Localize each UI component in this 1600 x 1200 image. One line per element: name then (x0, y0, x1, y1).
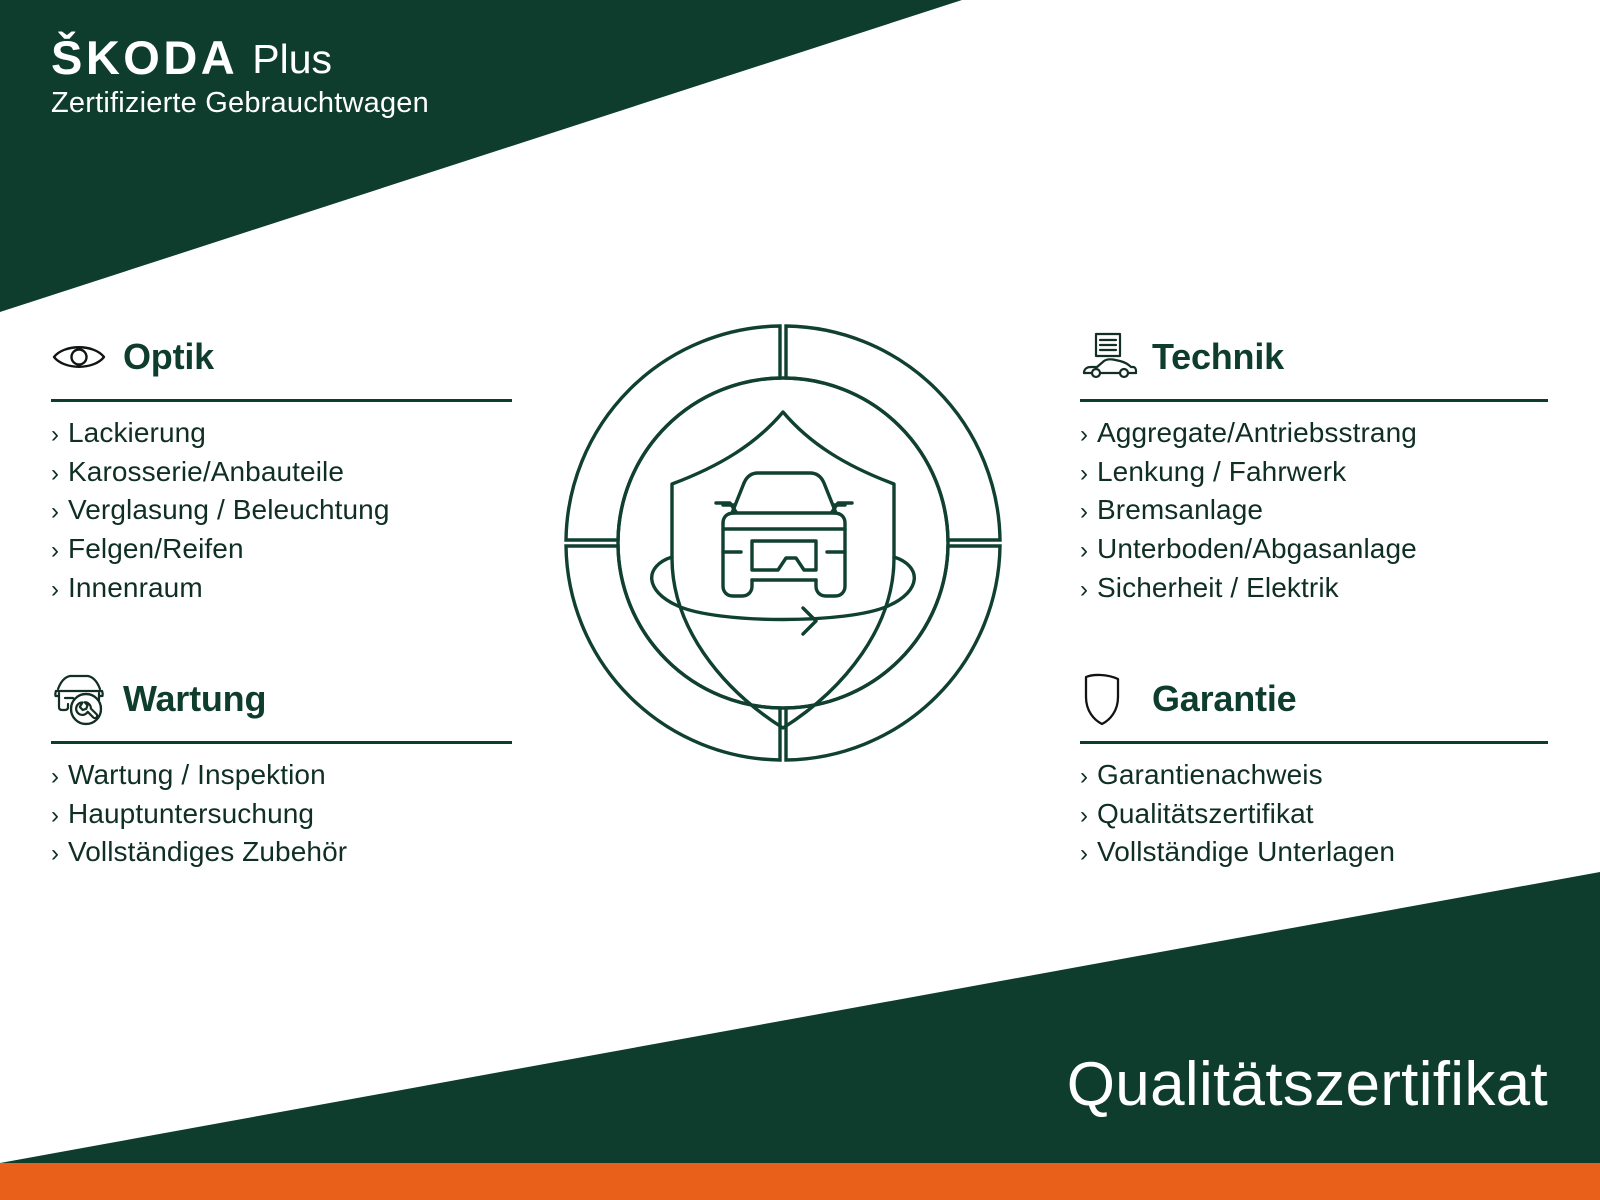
list-item: ›Sicherheit / Elektrik (1080, 569, 1548, 608)
list-item: ›Wartung / Inspektion (51, 756, 512, 795)
list-item: ›Bremsanlage (1080, 491, 1548, 530)
section-title-optik: Optik (123, 339, 214, 375)
brand-name: ŠKODA (51, 34, 238, 81)
section-garantie: Garantie ›Garantienachweis ›Qualitätszer… (1080, 670, 1548, 872)
chevron-right-icon: › (1080, 799, 1097, 832)
car-wrench-icon (51, 673, 109, 725)
brand-plus: Plus (252, 38, 332, 81)
section-technik: Technik ›Aggregate/Antriebsstrang ›Lenku… (1080, 328, 1548, 607)
list-item: ›Vollständiges Zubehör (51, 833, 512, 872)
section-title-wartung: Wartung (123, 681, 266, 717)
section-wartung: Wartung ›Wartung / Inspektion ›Hauptunte… (51, 670, 512, 872)
section-divider (51, 741, 512, 744)
chevron-right-icon: › (1080, 457, 1097, 490)
list-item: ›Qualitätszertifikat (1080, 795, 1548, 834)
chevron-right-icon: › (51, 837, 68, 870)
car-front-icon (716, 473, 852, 596)
list-item: ›Felgen/Reifen (51, 530, 512, 569)
list-item: ›Verglasung / Beleuchtung (51, 491, 512, 530)
column-left: Optik ›Lackierung ›Karosserie/Anbauteile… (51, 328, 512, 872)
shield-outline (672, 412, 894, 728)
chevron-right-icon: › (1080, 495, 1097, 528)
car-document-icon (1080, 331, 1138, 383)
chevron-right-icon: › (51, 418, 68, 451)
chevron-right-icon: › (1080, 837, 1097, 870)
orbit-arrow-icon (652, 557, 915, 634)
list-item: ›Lenkung / Fahrwerk (1080, 453, 1548, 492)
list-item: ›Unterboden/Abgasanlage (1080, 530, 1548, 569)
list-item: ›Karosserie/Anbauteile (51, 453, 512, 492)
list-item: ›Lackierung (51, 414, 512, 453)
section-optik: Optik ›Lackierung ›Karosserie/Anbauteile… (51, 328, 512, 607)
section-title-garantie: Garantie (1152, 681, 1296, 717)
chevron-right-icon: › (1080, 418, 1097, 451)
chevron-right-icon: › (1080, 534, 1097, 567)
list-item: ›Hauptuntersuchung (51, 795, 512, 834)
shield-icon (1080, 673, 1138, 725)
chevron-right-icon: › (1080, 573, 1097, 606)
brand-tagline: Zertifizierte Gebrauchtwagen (51, 88, 429, 120)
chevron-right-icon: › (51, 495, 68, 528)
section-divider (1080, 741, 1548, 744)
section-divider (51, 399, 512, 402)
eye-icon (51, 331, 109, 383)
section-list-wartung: ›Wartung / Inspektion ›Hauptuntersuchung… (51, 756, 512, 872)
certificate-poster: ŠKODA Plus Zertifizierte Gebrauchtwagen … (0, 0, 1600, 1200)
chevron-right-icon: › (1080, 760, 1097, 793)
chevron-right-icon: › (51, 760, 68, 793)
section-list-technik: ›Aggregate/Antriebsstrang ›Lenkung / Fah… (1080, 414, 1548, 607)
section-divider (1080, 399, 1548, 402)
chevron-right-icon: › (51, 573, 68, 606)
brand-logo: ŠKODA Plus Zertifizierte Gebrauchtwagen (51, 34, 429, 120)
column-right: Technik ›Aggregate/Antriebsstrang ›Lenku… (1080, 328, 1548, 872)
orange-bar (0, 1163, 1600, 1200)
footer-title: Qualitätszertifikat (1067, 1054, 1548, 1116)
list-item: ›Vollständige Unterlagen (1080, 833, 1548, 872)
list-item: ›Innenraum (51, 569, 512, 608)
chevron-right-icon: › (51, 534, 68, 567)
section-list-garantie: ›Garantienachweis ›Qualitätszertifikat ›… (1080, 756, 1548, 872)
section-list-optik: ›Lackierung ›Karosserie/Anbauteile ›Verg… (51, 414, 512, 607)
shield-car-360-icon (548, 308, 1018, 778)
list-item: ›Garantienachweis (1080, 756, 1548, 795)
chevron-right-icon: › (51, 799, 68, 832)
list-item: ›Aggregate/Antriebsstrang (1080, 414, 1548, 453)
section-title-technik: Technik (1152, 339, 1284, 375)
chevron-right-icon: › (51, 457, 68, 490)
